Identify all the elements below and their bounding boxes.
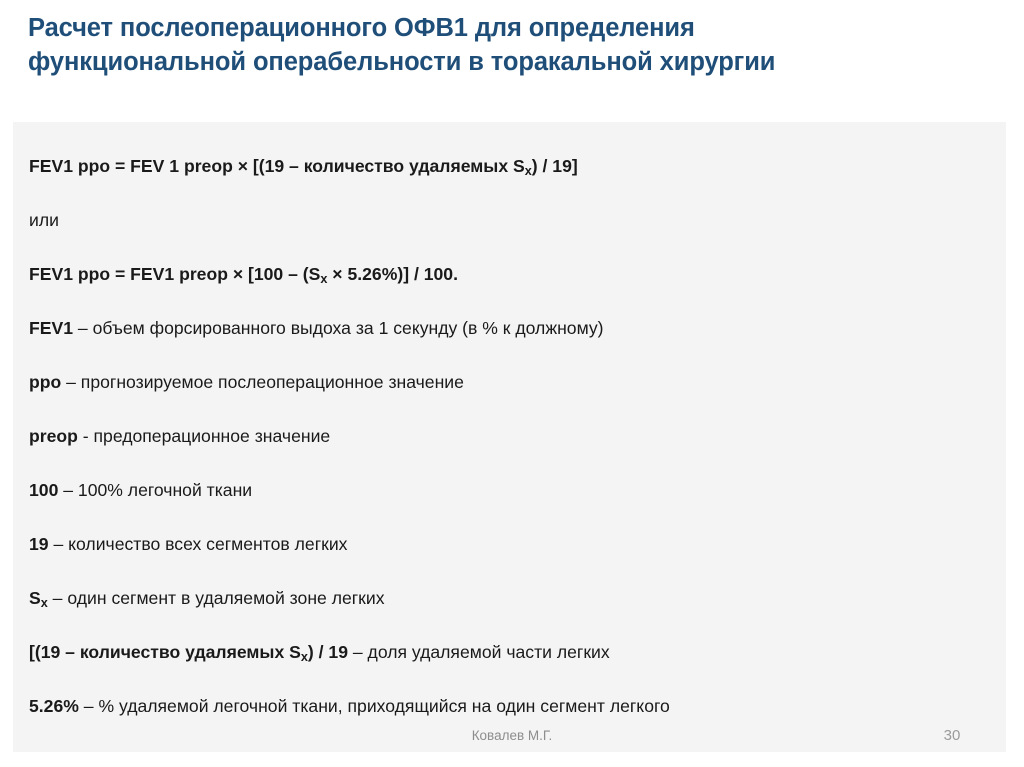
definition-description: – один сегмент в удаляемой зоне легких [48, 588, 385, 608]
definition-description: – % удаляемой легочной ткани, приходящий… [79, 696, 670, 716]
definition-term: S [29, 588, 41, 608]
definition-term-subscript: x [301, 650, 308, 664]
definition-row: 19 – количество всех сегментов легких [29, 536, 347, 554]
footer-author: Ковалев М.Г. [0, 728, 1024, 743]
definition-row: preop - предоперационное значение [29, 428, 330, 446]
definition-row: Sx – один сегмент в удаляемой зоне легки… [29, 590, 385, 608]
page-number: 30 [930, 727, 974, 744]
connector-text: или [29, 212, 59, 230]
definition-row: FEV1 – объем форсированного выдоха за 1 … [29, 320, 604, 338]
definition-description: – количество всех сегментов легких [49, 534, 348, 554]
definition-term: preop [29, 426, 78, 446]
definition-row: ppo – прогнозируемое послеоперационное з… [29, 374, 464, 392]
definition-row: 5.26% – % удаляемой легочной ткани, прих… [29, 698, 670, 716]
definition-term: 5.26% [29, 696, 79, 716]
connector-label: или [29, 210, 59, 230]
definition-description: – прогнозируемое послеоперационное значе… [61, 372, 464, 392]
definition-term-tail: ) / 19 [308, 642, 348, 662]
definition-description: - предоперационное значение [78, 426, 330, 446]
formula-2-lead: FEV1 ppo = FEV1 preop × [100 – (S [29, 264, 320, 284]
formula-1-lead: FEV1 ppo = FEV 1 preop × [(19 – количест… [29, 156, 525, 176]
definition-term: ppo [29, 372, 61, 392]
definition-description: – 100% легочной ткани [58, 480, 252, 500]
page-title-line-1: Расчет послеоперационного ОФВ1 для опред… [28, 12, 988, 46]
page-title-line-2: функциональной операбельности в торакаль… [28, 46, 988, 80]
definition-term: FEV1 [29, 318, 73, 338]
definition-term: 19 [29, 534, 49, 554]
formula-line-2: FEV1 ppo = FEV1 preop × [100 – (Sx × 5.2… [29, 266, 458, 284]
definition-term: 100 [29, 480, 58, 500]
formula-1-tail: ) / 19] [532, 156, 578, 176]
definition-description: – доля удаляемой части легких [348, 642, 610, 662]
formula-1-subscript: x [525, 164, 532, 178]
page-title: Расчет послеоперационного ОФВ1 для опред… [28, 12, 988, 80]
slide: Расчет послеоперационного ОФВ1 для опред… [0, 0, 1024, 767]
formula-2-subscript: x [320, 272, 327, 286]
formula-2-tail: × 5.26%)] / 100. [327, 264, 458, 284]
definition-term-subscript: x [41, 596, 48, 610]
definition-row: 100 – 100% легочной ткани [29, 482, 252, 500]
formula-line-1: FEV1 ppo = FEV 1 preop × [(19 – количест… [29, 158, 578, 176]
content-panel: FEV1 ppo = FEV 1 preop × [(19 – количест… [13, 122, 1006, 745]
definition-row: [(19 – количество удаляемых Sx) / 19 – д… [29, 644, 610, 662]
definition-description: – объем форсированного выдоха за 1 секун… [73, 318, 604, 338]
definition-term: [(19 – количество удаляемых S [29, 642, 301, 662]
